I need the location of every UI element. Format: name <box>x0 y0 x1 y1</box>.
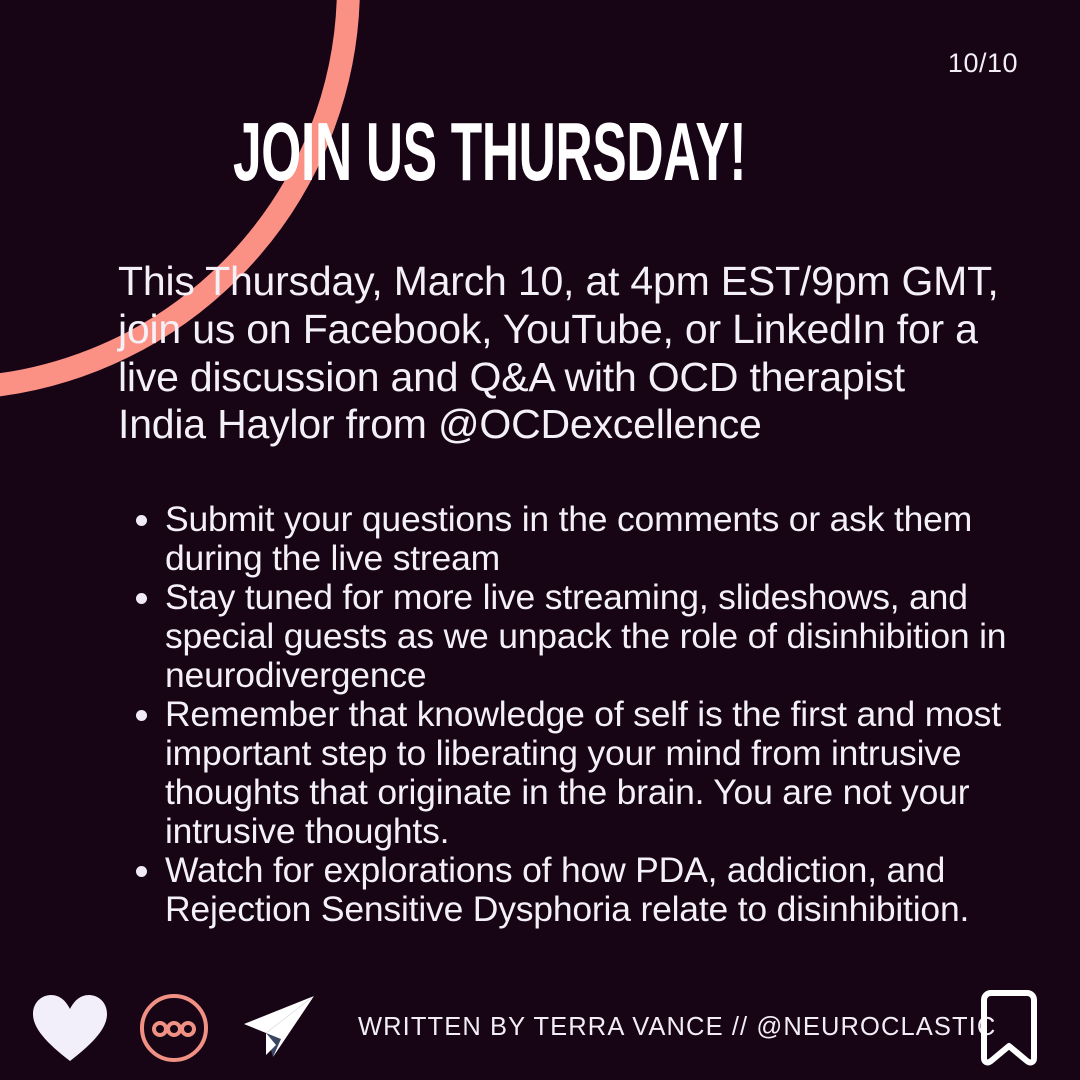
page-counter: 10/10 <box>948 48 1018 79</box>
share-paper-plane-icon[interactable] <box>240 992 318 1064</box>
list-item: Stay tuned for more live streaming, slid… <box>130 578 1030 694</box>
intro-line: This Thursday, March 10, at 4pm EST/9pm … <box>118 258 998 306</box>
bullet-dot-icon <box>136 710 147 721</box>
intro-line: India Haylor from @OCDexcellence <box>118 401 998 449</box>
list-item-label: Remember that knowledge of self is the f… <box>165 695 1030 850</box>
list-item-label: Watch for explorations of how PDA, addic… <box>165 851 1030 928</box>
bottom-action-bar: WRITTEN BY TERRA VANCE // @NEUROCLASTIC <box>0 975 1080 1080</box>
list-item: Submit your questions in the comments or… <box>130 500 1030 577</box>
intro-line: live discussion and Q&A with OCD therapi… <box>118 354 998 402</box>
slide-canvas: 10/10 JOIN US THURSDAY! This Thursday, M… <box>0 0 1080 1080</box>
bullet-dot-icon <box>136 866 147 877</box>
bullet-list: Submit your questions in the comments or… <box>130 500 1030 930</box>
action-icon-group <box>32 992 318 1064</box>
bullet-dot-icon <box>136 515 147 526</box>
intro-line: join us on Facebook, YouTube, or LinkedI… <box>118 306 998 354</box>
heart-icon[interactable] <box>32 994 108 1062</box>
list-item-label: Submit your questions in the comments or… <box>165 500 1030 577</box>
list-item-label: Stay tuned for more live streaming, slid… <box>165 578 1030 694</box>
comment-icon[interactable] <box>138 992 210 1064</box>
list-item: Remember that knowledge of self is the f… <box>130 695 1030 850</box>
list-item: Watch for explorations of how PDA, addic… <box>130 851 1030 928</box>
bookmark-icon[interactable] <box>976 990 1042 1066</box>
intro-paragraph: This Thursday, March 10, at 4pm EST/9pm … <box>118 258 998 449</box>
page-title: JOIN US THURSDAY! <box>233 113 746 192</box>
footer-credit: WRITTEN BY TERRA VANCE // @NEUROCLASTIC <box>358 1013 996 1042</box>
bullet-dot-icon <box>136 593 147 604</box>
